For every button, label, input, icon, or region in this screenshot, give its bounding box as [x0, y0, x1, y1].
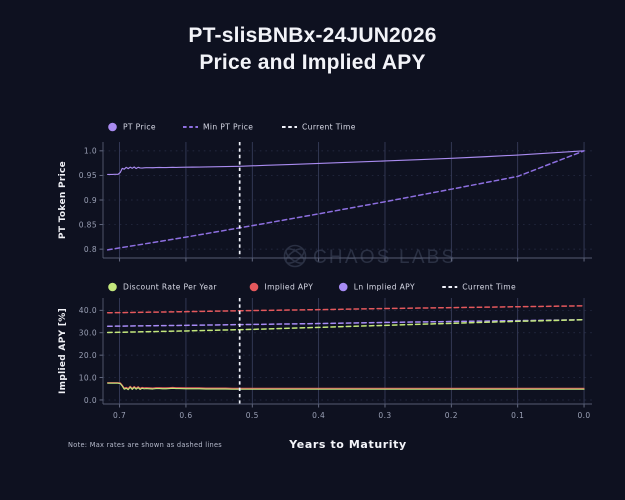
legend-marker-dot	[339, 283, 348, 292]
legend-item-discount-rate-per-year[interactable]: Discount Rate Per Year	[108, 283, 217, 292]
y-tick-label: 0.8	[84, 245, 97, 254]
legend-item-implied-apy[interactable]: Implied APY	[250, 283, 313, 292]
y-axis-title: PT Token Price	[58, 161, 68, 239]
y-tick-label: 30.0	[79, 329, 97, 338]
legend-label: Implied APY	[265, 283, 314, 292]
legend-label: Current Time	[462, 283, 516, 292]
y-tick-label: 0.0	[84, 396, 97, 405]
y-tick-label: 20.0	[79, 351, 97, 360]
x-tick-label: 0.1	[511, 411, 524, 420]
x-tick-label: 0.4	[312, 411, 325, 420]
y-axis-title: Implied APY [%]	[58, 308, 68, 394]
series-max-ln-implied-apy	[108, 320, 584, 327]
price-panel: 0.80.850.90.951.0PT Token PricePT PriceM…	[58, 123, 592, 262]
legend-item-min-pt-price[interactable]: Min PT Price	[183, 123, 253, 132]
legend-item-ln-implied-apy[interactable]: Ln Implied APY	[339, 283, 415, 292]
legend-item-current-time[interactable]: Current Time	[442, 283, 516, 292]
apy-panel: 0.010.020.030.040.00.70.60.50.40.30.20.1…	[58, 283, 592, 420]
legend-item-current-time[interactable]: Current Time	[282, 123, 356, 132]
legend-label: Ln Implied APY	[354, 283, 415, 292]
y-tick-label: 0.9	[84, 196, 97, 205]
legend-label: Discount Rate Per Year	[123, 283, 217, 292]
legend-marker-dot	[250, 283, 259, 292]
x-tick-label: 0.2	[445, 411, 458, 420]
series-min-pt-price	[108, 151, 584, 250]
y-tick-label: 0.85	[79, 220, 97, 229]
plot-canvas: CHAOS LABS0.80.850.90.951.0PT Token Pric…	[0, 0, 625, 500]
x-tick-label: 0.5	[246, 411, 259, 420]
y-tick-label: 10.0	[79, 373, 97, 382]
y-tick-label: 0.95	[79, 171, 97, 180]
series-pt-price	[108, 151, 584, 175]
y-tick-label: 40.0	[79, 306, 97, 315]
x-tick-label: 0.6	[179, 411, 192, 420]
x-axis-title: Years to Maturity	[288, 438, 407, 451]
chaos-labs-watermark: CHAOS LABS	[284, 246, 457, 269]
x-tick-label: 0.3	[378, 411, 391, 420]
legend-label: Min PT Price	[203, 123, 253, 132]
y-tick-label: 1.0	[84, 147, 97, 156]
legend-marker-dot	[108, 283, 117, 292]
series-max-implied-apy	[108, 306, 584, 313]
series-implied-apy	[108, 383, 584, 389]
legend-label: Current Time	[302, 123, 356, 132]
x-tick-label: 0.0	[577, 411, 590, 420]
x-tick-label: 0.7	[113, 411, 126, 420]
legend-item-pt-price[interactable]: PT Price	[108, 123, 156, 132]
chart-figure: PT-slisBNBx-24JUN2026 Price and Implied …	[0, 0, 625, 500]
footer-note: Note: Max rates are shown as dashed line…	[68, 441, 222, 449]
legend-label: PT Price	[123, 123, 156, 132]
legend-marker-dot	[108, 123, 117, 132]
series-discount-rate-per-year	[108, 383, 584, 390]
